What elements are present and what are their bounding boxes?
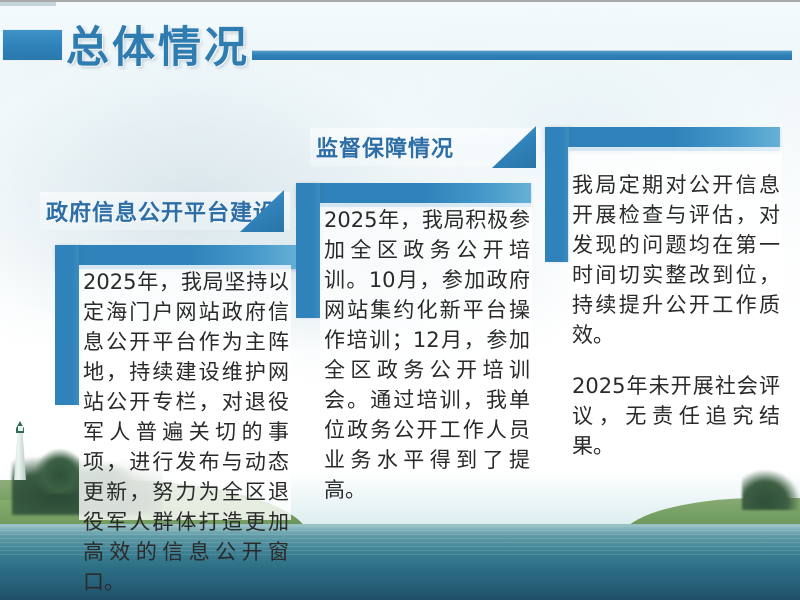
- column-3-body-text-line-2: 2025年未开展社会评议，无责任追究结果。: [572, 371, 780, 461]
- column-2-bracket-left: [296, 183, 320, 318]
- column-3-body-text-line-1: 我局定期对公开信息开展检查与评估，对发现的问题均在第一时间切实整改到位，持续提升…: [572, 170, 780, 350]
- column-3-bracket-left: [545, 127, 569, 262]
- top-border-line: [0, 0, 800, 2]
- lighthouse-lamp-icon: [18, 426, 23, 431]
- background-trees-right: [742, 470, 800, 510]
- column-2-body-text: 2025年，我局积极参加全区政务公开培训。10月，参加政府网站集约化新平台操作培…: [324, 205, 530, 505]
- title-accent-rectangle: [2, 29, 63, 61]
- column-2-body-panel: 2025年，我局积极参加全区政务公开培训。10月，参加政府网站集约化新平台操作培…: [320, 203, 532, 438]
- title-underline-rule: [252, 50, 792, 60]
- column-2-header-label: 监督保障情况: [316, 131, 454, 163]
- column-1-bracket-left: [55, 245, 79, 405]
- top-left-accent-band: [0, 2, 56, 6]
- column-1-body-text: 2025年，我局坚持以定海门户网站政府信息公开平台作为主阵地，持续建设维护网站公…: [83, 267, 289, 597]
- column-1-header-label: 政府信息公开平台建设: [46, 195, 276, 227]
- column-3-body-panel: 我局定期对公开信息开展检查与评估，对发现的问题均在第一时间切实整改到位，持续提升…: [568, 147, 782, 387]
- page-title: 总体情况: [66, 13, 250, 75]
- slide-canvas: 总体情况 政府信息公开平台建设 2025年，我局坚持以定海门户网站政府信息公开平…: [0, 0, 800, 600]
- column-1-body-panel: 2025年，我局坚持以定海门户网站政府信息公开平台作为主阵地，持续建设维护网站公…: [79, 265, 291, 520]
